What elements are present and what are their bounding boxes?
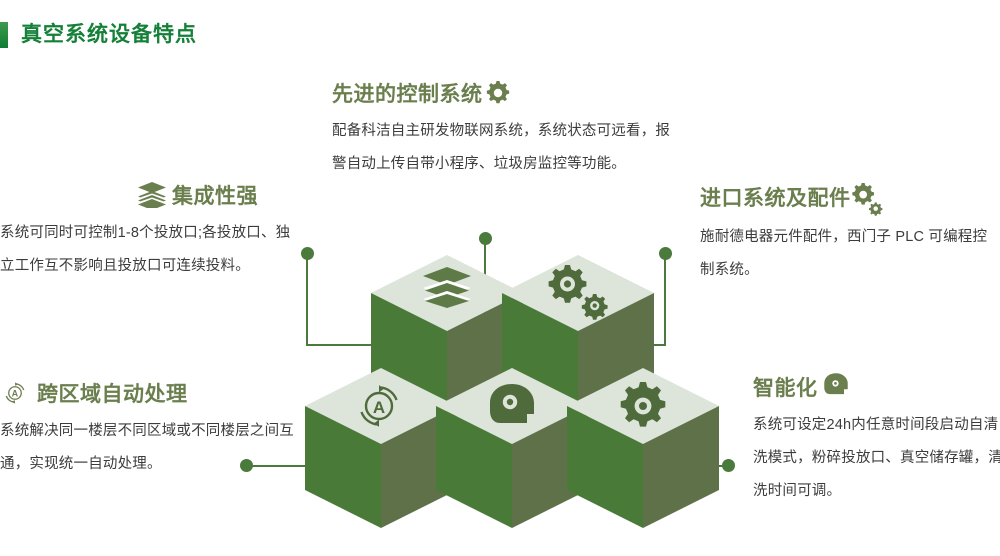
isometric-cube-stack: A xyxy=(315,255,675,555)
feature-imported-heading: 进口系统及配件 xyxy=(700,182,851,212)
feature-imported-body: 施耐德电器元件配件，西门子 PLC 可编程控制系统。 xyxy=(700,221,1000,287)
cube-bottom-left: A xyxy=(305,368,457,544)
cube-bottom-mid xyxy=(436,368,588,544)
feature-crossarea: A 跨区域自动处理 系统解决同一楼层不同区域或不同楼层之间互通，实现统一自动处理… xyxy=(0,378,300,481)
svg-text:A: A xyxy=(12,389,19,399)
auto-rotate-a-icon: A xyxy=(0,379,30,407)
feature-crossarea-body: 系统解决同一楼层不同区域或不同楼层之间互通，实现统一自动处理。 xyxy=(0,415,300,481)
title-accent-bar xyxy=(0,22,8,48)
feature-integration-body: 系统可同时可控制1-8个投放口;各投放口、独立工作互不影响且投放口可连续投料。 xyxy=(0,217,300,283)
feature-control-heading-row: 先进的控制系统 xyxy=(332,78,672,108)
layers-stack-icon xyxy=(136,182,168,208)
feature-crossarea-heading-row: A 跨区域自动处理 xyxy=(0,378,300,408)
gear-icon xyxy=(485,80,511,106)
feature-imported: 进口系统及配件 施耐德电器元件配件，西门子 PLC 可编程控制系统。 xyxy=(700,180,1000,287)
feature-smart-heading: 智能化 xyxy=(753,372,818,402)
feature-integration-heading: 集成性强 xyxy=(172,180,258,210)
page-title: 真空系统设备特点 xyxy=(21,22,197,48)
infographic-canvas: 真空系统设备特点 xyxy=(0,0,1000,556)
cube-bottom-right xyxy=(567,368,719,544)
layers-stack-icon xyxy=(419,267,475,307)
feature-integration-heading-row: 集成性强 xyxy=(136,180,300,210)
feature-control-heading: 先进的控制系统 xyxy=(332,78,483,108)
svg-text:A: A xyxy=(373,398,385,417)
page-title-group: 真空系统设备特点 xyxy=(0,22,197,48)
auto-rotate-a-icon: A xyxy=(349,378,409,434)
dual-gear-icon xyxy=(852,182,886,216)
brain-gear-icon xyxy=(481,380,543,432)
brain-gear-icon xyxy=(820,371,852,399)
feature-smart: 智能化 系统可设定24h内任意时间段启动自清洗模式，粉碎投放口、真空储存罐，清洗… xyxy=(753,372,1000,508)
feature-smart-heading-row: 智能化 xyxy=(753,372,1000,402)
dual-gear-icon xyxy=(542,263,612,317)
gear-icon xyxy=(615,378,671,434)
feature-imported-heading-row: 进口系统及配件 xyxy=(700,180,1000,214)
feature-integration: 集成性强 系统可同时可控制1-8个投放口;各投放口、独立工作互不影响且投放口可连… xyxy=(0,180,300,283)
feature-smart-body: 系统可设定24h内任意时间段启动自清洗模式，粉碎投放口、真空储存罐，清洗时间可调… xyxy=(753,409,1000,508)
feature-crossarea-heading: 跨区域自动处理 xyxy=(37,378,188,408)
feature-control: 先进的控制系统 配备科洁自主研发物联网系统，系统状态可远看，报警自动上传自带小程… xyxy=(332,78,672,181)
feature-control-body: 配备科洁自主研发物联网系统，系统状态可远看，报警自动上传自带小程序、垃圾房监控等… xyxy=(332,115,672,181)
